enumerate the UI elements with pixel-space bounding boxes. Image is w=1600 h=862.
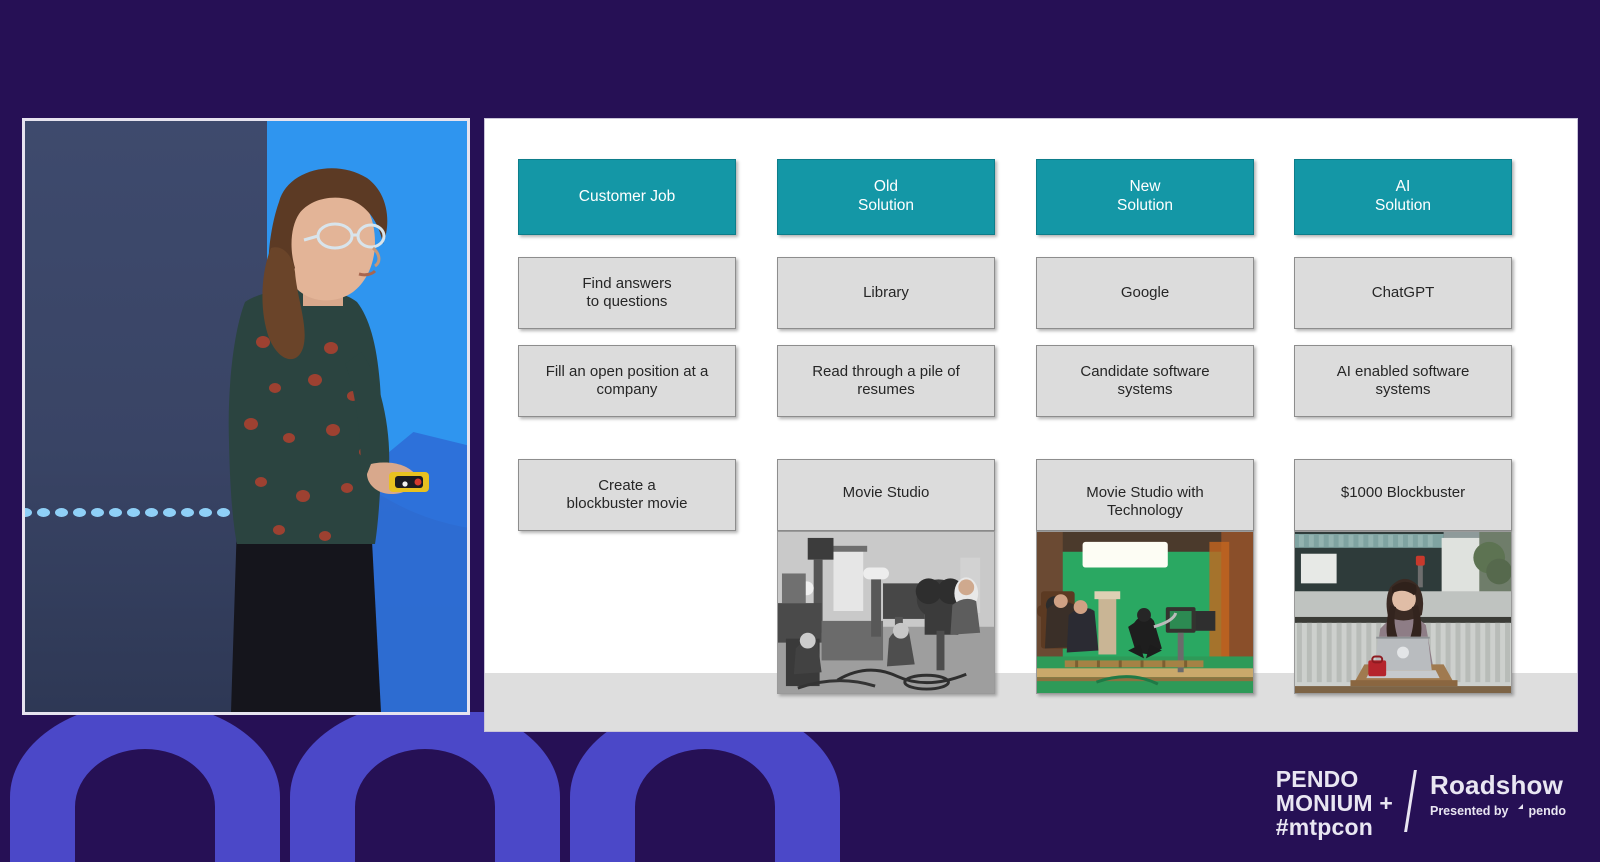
stage-dot: [22, 508, 32, 517]
stage-dot: [145, 508, 158, 517]
grid-cell-text: Create ablockbuster movie: [567, 477, 688, 514]
grid-cell-r2-c1[interactable]: Fill an open position at acompany: [518, 345, 736, 417]
grid-cell-r1-c2[interactable]: Library: [777, 257, 995, 329]
arches-svg: [0, 712, 900, 862]
column-header-text: Customer Job: [579, 188, 675, 207]
grid-cell-text: AI enabled softwaresystems: [1337, 363, 1470, 400]
grid-cell-r3-c4[interactable]: $1000 Blockbuster: [1294, 459, 1512, 531]
grid-cell-line: Library: [863, 284, 909, 302]
stage-dot: [37, 508, 50, 517]
grid-cell-text: Google: [1121, 284, 1169, 302]
column-header-line: AI: [1375, 178, 1431, 197]
grid-cell-text: $1000 Blockbuster: [1341, 484, 1465, 502]
grid-cell-line: systems: [1080, 381, 1209, 399]
grid-cell-line: Movie Studio with: [1086, 484, 1204, 502]
column-header-text: AISolution: [1375, 178, 1431, 216]
grid-cell-text: Candidate softwaresystems: [1080, 363, 1209, 400]
grid-cell-line: to questions: [582, 293, 671, 311]
grid-cell-line: Candidate software: [1080, 363, 1209, 381]
grid-cell-r1-c1[interactable]: Find answersto questions: [518, 257, 736, 329]
arch-2: [290, 712, 560, 862]
photo-green-screen-studio-with-crew-and-performer: [1036, 531, 1254, 694]
grid-cell-line: AI enabled software: [1337, 363, 1470, 381]
grid-cell-line: ChatGPT: [1372, 284, 1435, 302]
speaker-stage-video[interactable]: [22, 118, 470, 715]
column-header-line: Solution: [858, 197, 914, 216]
comparison-grid: Customer JobOldSolutionNewSolutionAISolu…: [485, 119, 1577, 731]
column-header-3[interactable]: NewSolution: [1036, 159, 1254, 235]
grid-cell-line: Fill an open position at a: [546, 363, 709, 381]
stage-dot: [127, 508, 140, 517]
brand-line-3: #mtpcon: [1276, 816, 1393, 840]
grid-cell-text: Movie Studio: [843, 484, 930, 502]
grid-cell-text: ChatGPT: [1372, 284, 1435, 302]
pendomonium-wordmark: PENDO MONIUM + #mtpcon: [1276, 768, 1409, 840]
column-header-line: Customer Job: [579, 188, 675, 207]
grid-cell-line: Google: [1121, 284, 1169, 302]
presented-by-label: Presented by: [1430, 804, 1509, 818]
roadshow-wordmark: Roadshow Presented by pendo: [1412, 768, 1566, 818]
grid-cell-line: systems: [1337, 381, 1470, 399]
grid-cell-text: Movie Studio withTechnology: [1086, 484, 1204, 521]
grid-cell-r3-c1[interactable]: Create ablockbuster movie: [518, 459, 736, 531]
speaker-figure: [175, 152, 435, 712]
brand-line-2: MONIUM +: [1276, 792, 1393, 816]
stage-dot: [55, 508, 68, 517]
column-header-2[interactable]: OldSolution: [777, 159, 995, 235]
photo-woman-with-laptop-at-outdoor-cafe-table: [1294, 531, 1512, 694]
column-header-line: Solution: [1117, 197, 1173, 216]
grid-cell-line: resumes: [812, 381, 960, 399]
grid-cell-r3-c2[interactable]: Movie Studio: [777, 459, 995, 531]
grid-cell-line: Create a: [567, 477, 688, 495]
grid-cell-line: blockbuster movie: [567, 495, 688, 513]
stage-dot: [73, 508, 86, 517]
column-header-text: NewSolution: [1117, 178, 1173, 216]
grid-cell-r1-c3[interactable]: Google: [1036, 257, 1254, 329]
pendo-logo-icon: [1513, 803, 1525, 818]
presented-by-line: Presented by pendo: [1430, 803, 1566, 818]
grid-cell-line: $1000 Blockbuster: [1341, 484, 1465, 502]
presentation-slide[interactable]: Customer JobOldSolutionNewSolutionAISolu…: [484, 118, 1578, 732]
pendo-wordmark: pendo: [1529, 804, 1567, 818]
column-header-line: Old: [858, 178, 914, 197]
grid-cell-text: Find answersto questions: [582, 275, 671, 312]
grid-cell-text: Fill an open position at acompany: [546, 363, 709, 400]
decorative-arches: [0, 712, 900, 862]
column-header-text: OldSolution: [858, 178, 914, 216]
grid-cell-line: company: [546, 381, 709, 399]
brand-line-1: PENDO: [1276, 768, 1393, 792]
grid-cell-r3-c3[interactable]: Movie Studio withTechnology: [1036, 459, 1254, 531]
column-header-4[interactable]: AISolution: [1294, 159, 1512, 235]
grid-cell-line: Find answers: [582, 275, 671, 293]
roadshow-label: Roadshow: [1430, 772, 1566, 798]
event-logo: PENDO MONIUM + #mtpcon Roadshow Presente…: [1276, 768, 1566, 840]
photo-vintage-black-and-white-film-set-with-crew-and-camera: [777, 531, 995, 694]
arch-3: [570, 712, 840, 862]
grid-cell-r1-c4[interactable]: ChatGPT: [1294, 257, 1512, 329]
grid-cell-text: Read through a pile ofresumes: [812, 363, 960, 400]
grid-cell-text: Library: [863, 284, 909, 302]
grid-cell-line: Read through a pile of: [812, 363, 960, 381]
column-header-line: Solution: [1375, 197, 1431, 216]
arch-group: [10, 712, 840, 862]
grid-cell-line: Movie Studio: [843, 484, 930, 502]
stage-dot: [109, 508, 122, 517]
grid-cell-r2-c2[interactable]: Read through a pile ofresumes: [777, 345, 995, 417]
grid-cell-line: Technology: [1086, 502, 1204, 520]
grid-cell-r2-c4[interactable]: AI enabled softwaresystems: [1294, 345, 1512, 417]
arch-1: [10, 712, 280, 862]
column-header-1[interactable]: Customer Job: [518, 159, 736, 235]
column-header-line: New: [1117, 178, 1173, 197]
grid-cell-r2-c3[interactable]: Candidate softwaresystems: [1036, 345, 1254, 417]
stage-dot: [91, 508, 104, 517]
